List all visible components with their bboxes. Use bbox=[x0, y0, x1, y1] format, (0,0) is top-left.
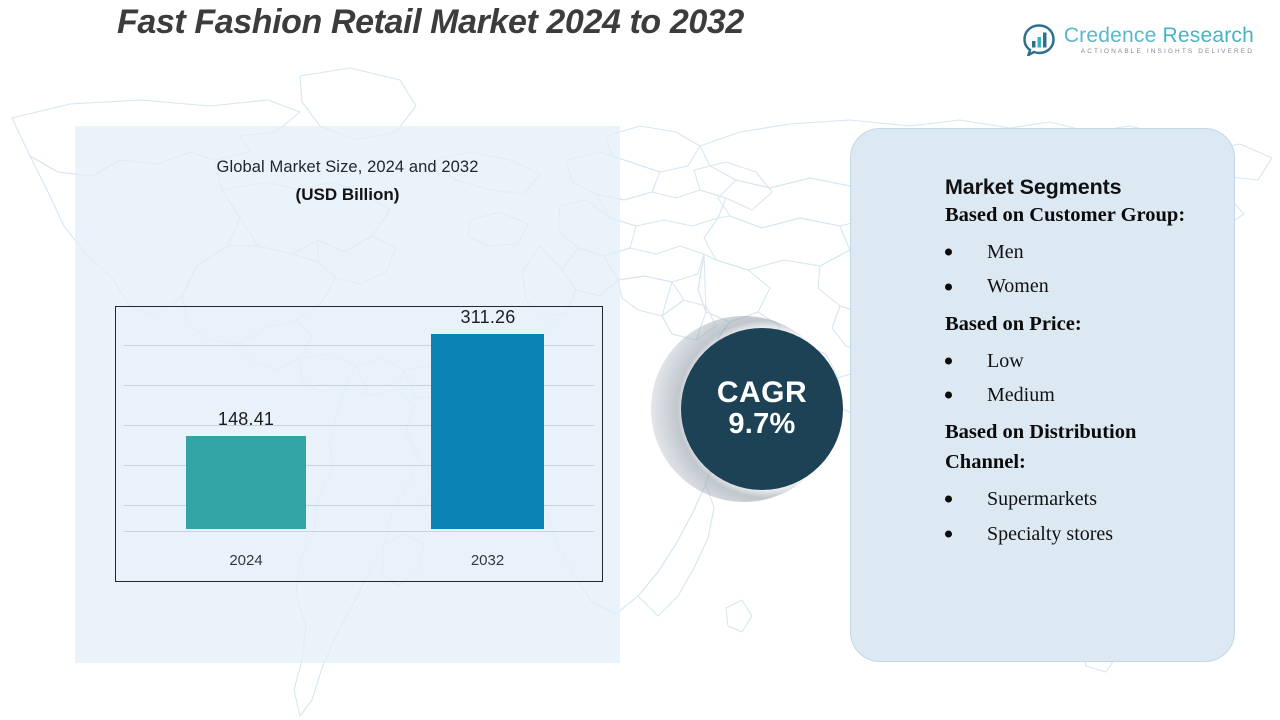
list-item: Supermarkets bbox=[945, 482, 1204, 516]
segment-list-customer-group: Men Women bbox=[945, 235, 1204, 304]
segment-list-distribution-channel: Supermarkets Specialty stores bbox=[945, 482, 1204, 551]
brand-name-part2: Research bbox=[1163, 24, 1254, 47]
list-item-label: Women bbox=[987, 275, 1049, 297]
segment-heading-customer-group: Based on Customer Group: bbox=[945, 201, 1204, 231]
brand-name-part1: Credence bbox=[1064, 24, 1157, 47]
bar-2032 bbox=[431, 334, 544, 529]
bar-value-2024: 148.41 bbox=[186, 409, 306, 430]
cagr-label: CAGR bbox=[717, 377, 807, 409]
bar-chart: 148.41 311.26 2024 2032 bbox=[115, 306, 603, 582]
segment-heading-price: Based on Price: bbox=[945, 310, 1204, 340]
cagr-value: 9.7% bbox=[728, 408, 795, 441]
bullet-icon bbox=[945, 392, 952, 399]
brand-tagline: Actionable Insights Delivered bbox=[1064, 49, 1254, 56]
bar-value-2032: 311.26 bbox=[429, 307, 547, 328]
chart-heading: Global Market Size, 2024 and 2032 (USD B… bbox=[75, 158, 620, 205]
list-item-label: Specialty stores bbox=[987, 523, 1113, 545]
x-axis-label-2024: 2024 bbox=[186, 552, 306, 569]
brand-logo: Credence Research Actionable Insights De… bbox=[1023, 24, 1254, 56]
gridline bbox=[124, 531, 594, 532]
bullet-icon bbox=[945, 530, 952, 537]
segment-heading-distribution-channel: Based on Distribution Channel: bbox=[945, 418, 1204, 478]
bullet-icon bbox=[945, 496, 952, 503]
bullet-icon bbox=[945, 249, 952, 256]
page-title: Fast Fashion Retail Market 2024 to 2032 bbox=[117, 3, 744, 42]
chart-subtitle: (USD Billion) bbox=[75, 185, 620, 205]
list-item-label: Medium bbox=[987, 384, 1055, 406]
chart-title: Global Market Size, 2024 and 2032 bbox=[75, 158, 620, 177]
list-item-label: Supermarkets bbox=[987, 488, 1097, 510]
x-axis-label-2032: 2032 bbox=[431, 552, 544, 569]
market-segments-panel: Market Segments Based on Customer Group:… bbox=[850, 128, 1235, 662]
list-item-label: Low bbox=[987, 350, 1024, 372]
segment-list-price: Low Medium bbox=[945, 344, 1204, 413]
list-item: Low bbox=[945, 344, 1204, 378]
list-item-label: Men bbox=[987, 241, 1024, 263]
cagr-badge: CAGR 9.7% bbox=[651, 316, 851, 502]
cagr-circle: CAGR 9.7% bbox=[681, 328, 843, 490]
segments-title: Market Segments bbox=[945, 175, 1204, 200]
list-item: Medium bbox=[945, 378, 1204, 412]
list-item: Men bbox=[945, 235, 1204, 269]
list-item: Specialty stores bbox=[945, 517, 1204, 551]
bar-2024 bbox=[186, 436, 306, 529]
list-item: Women bbox=[945, 269, 1204, 303]
bullet-icon bbox=[945, 283, 952, 290]
bullet-icon bbox=[945, 357, 952, 364]
bar-chart-circle-icon bbox=[1023, 24, 1055, 56]
